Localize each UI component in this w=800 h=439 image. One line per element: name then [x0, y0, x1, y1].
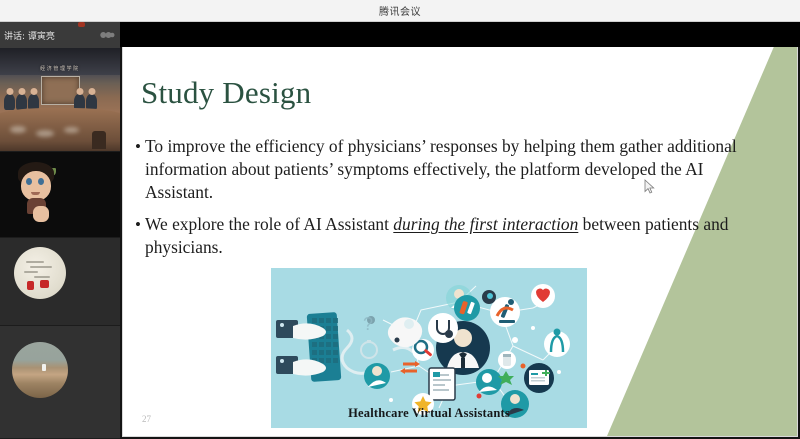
cartoon-avatar-frame [0, 152, 120, 237]
slide-bullet-item: • To improve the efficiency of physician… [131, 135, 771, 204]
cream-circle-avatar-icon [14, 247, 66, 299]
room-person [16, 94, 27, 110]
shared-screen-region[interactable]: Study Design • To improve the efficiency… [120, 22, 800, 439]
meeting-window: 腾讯会议 讲话: 谭寅亮 经济管理学院 [0, 0, 800, 439]
slide-bullet-item: • We explore the role of AI Assistant du… [131, 213, 771, 259]
slide-bullet-text: We explore the role of AI Assistant duri… [145, 213, 771, 259]
participant-filmstrip[interactable]: 讲话: 谭寅亮 经济管理学院 [0, 22, 120, 439]
svg-text:?: ? [363, 314, 373, 334]
participant-tile-cream-avatar[interactable] [0, 238, 120, 326]
bullet-1-text: To improve the efficiency of physicians’… [145, 136, 737, 202]
table-glare [10, 126, 26, 133]
conference-room-video-frame: 经济管理学院 [0, 48, 120, 151]
slide-bullet-text: To improve the efficiency of physicians’… [145, 135, 771, 204]
beach-photo-avatar-icon [12, 342, 68, 398]
active-speaker-bar: 讲话: 谭寅亮 [0, 22, 120, 48]
slide-page-number: 27 [142, 414, 151, 424]
window-title: 腾讯会议 [379, 3, 421, 18]
participant-tile-cartoon-avatar[interactable] [0, 152, 120, 238]
bullet-2-emphasis: during the first interaction [393, 214, 578, 234]
table-glare [36, 130, 54, 137]
presentation-slide: Study Design • To improve the efficiency… [122, 47, 798, 437]
bullet-marker: • [131, 213, 145, 259]
participant-tile-conference-room[interactable]: 经济管理学院 [0, 48, 120, 152]
illustration-caption: Healthcare Virtual Assistants [271, 406, 587, 421]
cartoon-avatar-icon [14, 162, 60, 222]
window-titlebar: 腾讯会议 [0, 0, 800, 22]
bullet-2-text-lead: We explore the role of AI Assistant [145, 214, 393, 234]
table-glare [64, 127, 79, 133]
room-chair [92, 131, 106, 149]
slide-title: Study Design [141, 75, 311, 111]
bullet-marker: • [131, 135, 145, 204]
recording-indicator-dot [78, 22, 85, 27]
slide-bullet-list: • To improve the efficiency of physician… [131, 135, 771, 268]
healthcare-virtual-assistant-image: ? Hea [271, 268, 587, 428]
meeting-stage: 讲话: 谭寅亮 经济管理学院 [0, 22, 800, 439]
shared-screen-letterbox [120, 22, 800, 47]
active-speaker-label: 讲话: 谭寅亮 [4, 29, 98, 42]
participant-tile-beach-avatar[interactable] [0, 326, 120, 439]
room-banner-text: 经济管理学院 [19, 61, 101, 74]
speaking-waveform-icon [98, 28, 116, 42]
room-person [4, 94, 15, 110]
illustration-graphic: ? [271, 268, 587, 428]
